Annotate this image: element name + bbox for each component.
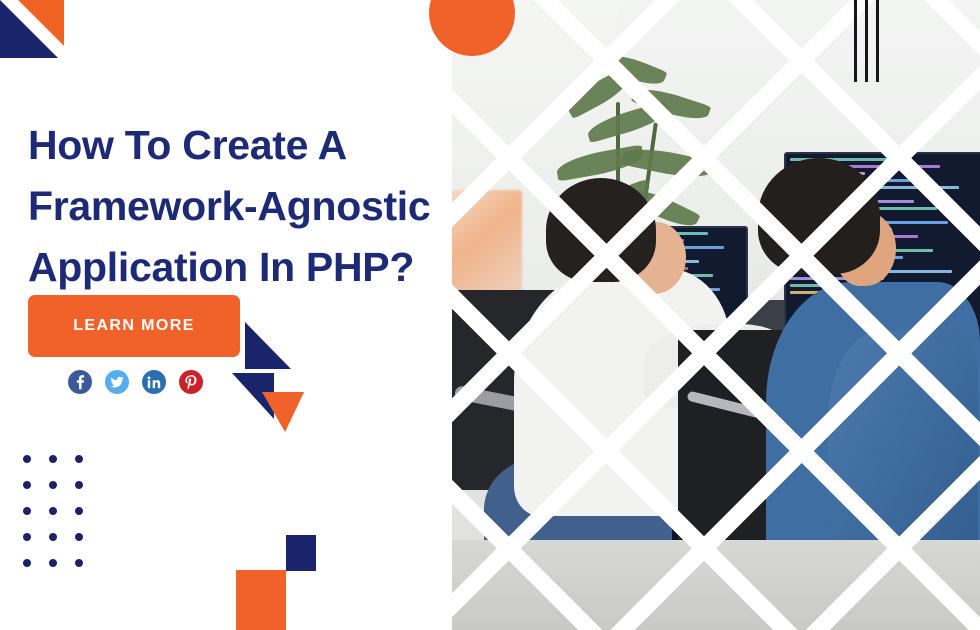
grid-dot [75, 507, 83, 515]
social-links [68, 370, 203, 394]
grid-dot [23, 507, 31, 515]
headline-line-2: Framework-Agnostic [28, 176, 448, 237]
grid-dot [75, 481, 83, 489]
office-photo [428, 0, 980, 630]
square-navy [286, 535, 316, 571]
pinterest-icon[interactable] [179, 370, 203, 394]
headline-line-3: Application In PHP? [28, 237, 448, 298]
banner-root: How To Create A Framework-Agnostic Appli… [0, 0, 980, 630]
developer-right-hair [758, 158, 880, 274]
page-title: How To Create A Framework-Agnostic Appli… [28, 115, 448, 298]
grid-dot [49, 559, 57, 567]
linkedin-icon[interactable] [142, 370, 166, 394]
grid-dot [75, 533, 83, 541]
grid-dot [23, 559, 31, 567]
floor-strip [428, 540, 980, 630]
grid-dot [49, 507, 57, 515]
grid-dot [23, 481, 31, 489]
photo-left-edge-mask [428, 0, 452, 630]
grid-dot [49, 455, 57, 463]
grid-dot [49, 533, 57, 541]
vertical-bar [876, 0, 879, 82]
photo-collage [428, 0, 980, 630]
grid-dot [49, 481, 57, 489]
triangle-navy-upper [245, 322, 291, 369]
developer-left-hair [546, 178, 656, 282]
grid-dot [23, 455, 31, 463]
grid-dot [75, 455, 83, 463]
learn-more-button[interactable]: LEARN MORE [28, 295, 240, 357]
square-orange [236, 570, 286, 630]
headline-line-1: How To Create A [28, 115, 448, 176]
twitter-icon[interactable] [105, 370, 129, 394]
grid-dot [75, 559, 83, 567]
vertical-bars-decoration [854, 0, 884, 82]
learn-more-label: LEARN MORE [73, 317, 195, 335]
corner-arrow-decoration [0, 0, 62, 62]
grid-dot [23, 533, 31, 541]
vertical-bar [865, 0, 868, 82]
vertical-bar [854, 0, 857, 82]
facebook-icon[interactable] [68, 370, 92, 394]
